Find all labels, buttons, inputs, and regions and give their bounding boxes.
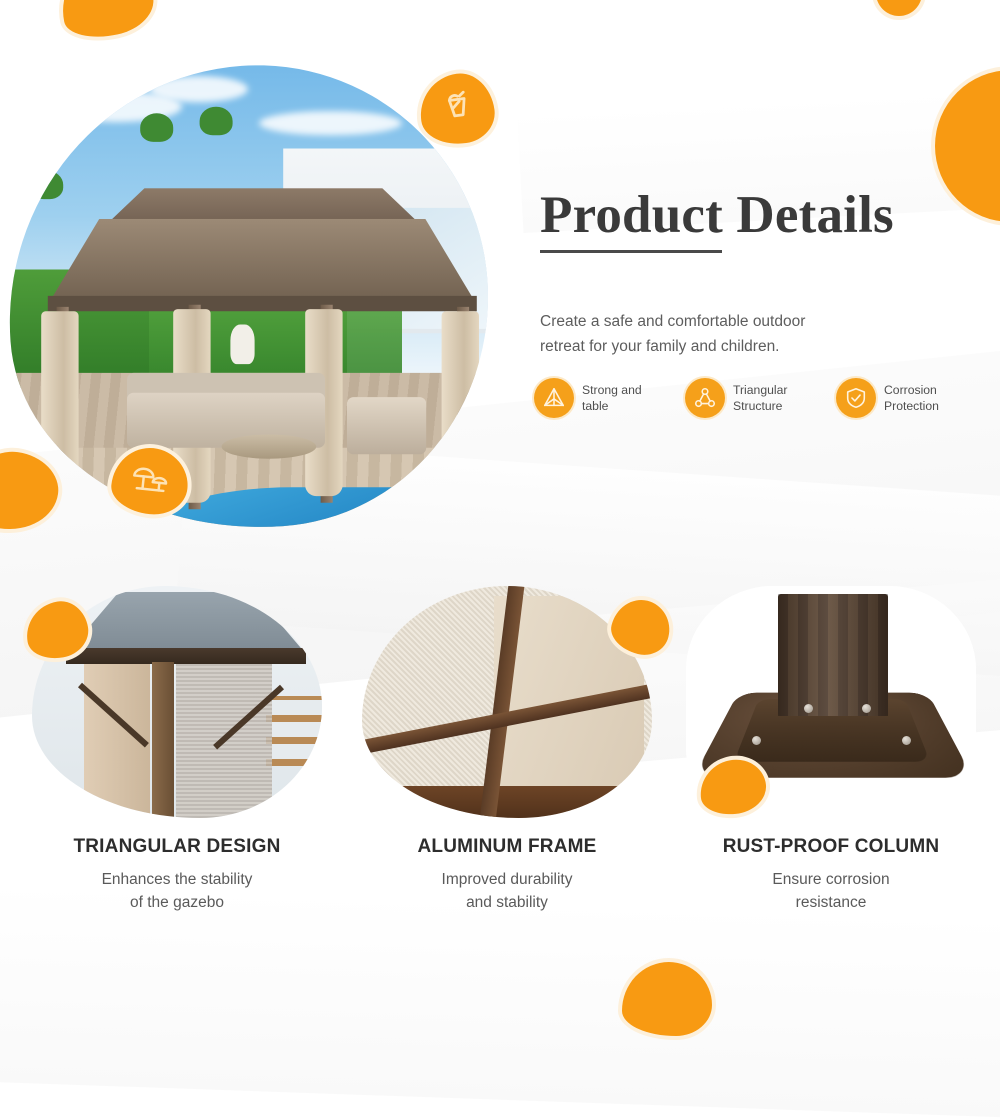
beach-parasol-icon: [128, 461, 172, 502]
card-title: RUST-PROOF COLUMN: [672, 836, 990, 858]
molecule-triangle-icon: [685, 378, 725, 418]
decorative-blob-top-right-dot: [876, 0, 922, 16]
card-description-line2: resistance: [796, 894, 867, 911]
card-description-line2: of the gazebo: [130, 894, 224, 911]
card-description: Ensure corrosion resistance: [672, 868, 990, 915]
page-canvas: Product Details Create a safe and comfor…: [0, 0, 1000, 1000]
shield-check-icon: [836, 378, 876, 418]
feature-label-line1: Triangular: [733, 383, 787, 397]
feature-label-line2: table: [582, 399, 608, 413]
card-title: TRIANGULAR DESIGN: [18, 836, 336, 858]
decorative-blob-top: [53, 0, 159, 45]
feature-label-line2: Structure: [733, 399, 782, 413]
feature-label: Triangular Structure: [733, 382, 787, 415]
page-title: Product Details: [540, 186, 960, 245]
card-description-line1: Ensure corrosion: [772, 871, 889, 888]
pyramid-icon: [534, 378, 574, 418]
decorative-blob-bottom: [622, 962, 712, 1036]
feature-item-corrosion-protection: Corrosion Protection: [836, 378, 978, 418]
header-block: Product Details Create a safe and comfor…: [540, 186, 960, 360]
page-subtitle: Create a safe and comfortable outdoor re…: [540, 309, 840, 359]
feature-list: Strong and table Triangular Structure: [534, 378, 978, 418]
card-description: Improved durability and stability: [348, 868, 666, 915]
feature-card-list: TRIANGULAR DESIGN Enhances the stability…: [0, 586, 1000, 966]
feature-card-rust-proof-column: RUST-PROOF COLUMN Ensure corrosion resis…: [672, 586, 990, 915]
card-description: Enhances the stability of the gazebo: [18, 868, 336, 915]
card-description-line2: and stability: [466, 894, 548, 911]
feature-label: Corrosion Protection: [884, 382, 939, 415]
feature-label-line1: Corrosion: [884, 383, 937, 397]
title-underline: [540, 250, 722, 253]
card-photo-aluminum-frame: [362, 586, 652, 818]
card-title: ALUMINUM FRAME: [348, 836, 666, 858]
card-description-line1: Enhances the stability: [102, 871, 253, 888]
feature-item-strong-table: Strong and table: [534, 378, 676, 418]
feature-label-line1: Strong and: [582, 383, 642, 397]
feature-item-triangular-structure: Triangular Structure: [685, 378, 827, 418]
cocktail-drink-icon: [437, 87, 476, 130]
feature-label-line2: Protection: [884, 399, 939, 413]
feature-label: Strong and table: [582, 382, 642, 415]
card-description-line1: Improved durability: [442, 871, 573, 888]
